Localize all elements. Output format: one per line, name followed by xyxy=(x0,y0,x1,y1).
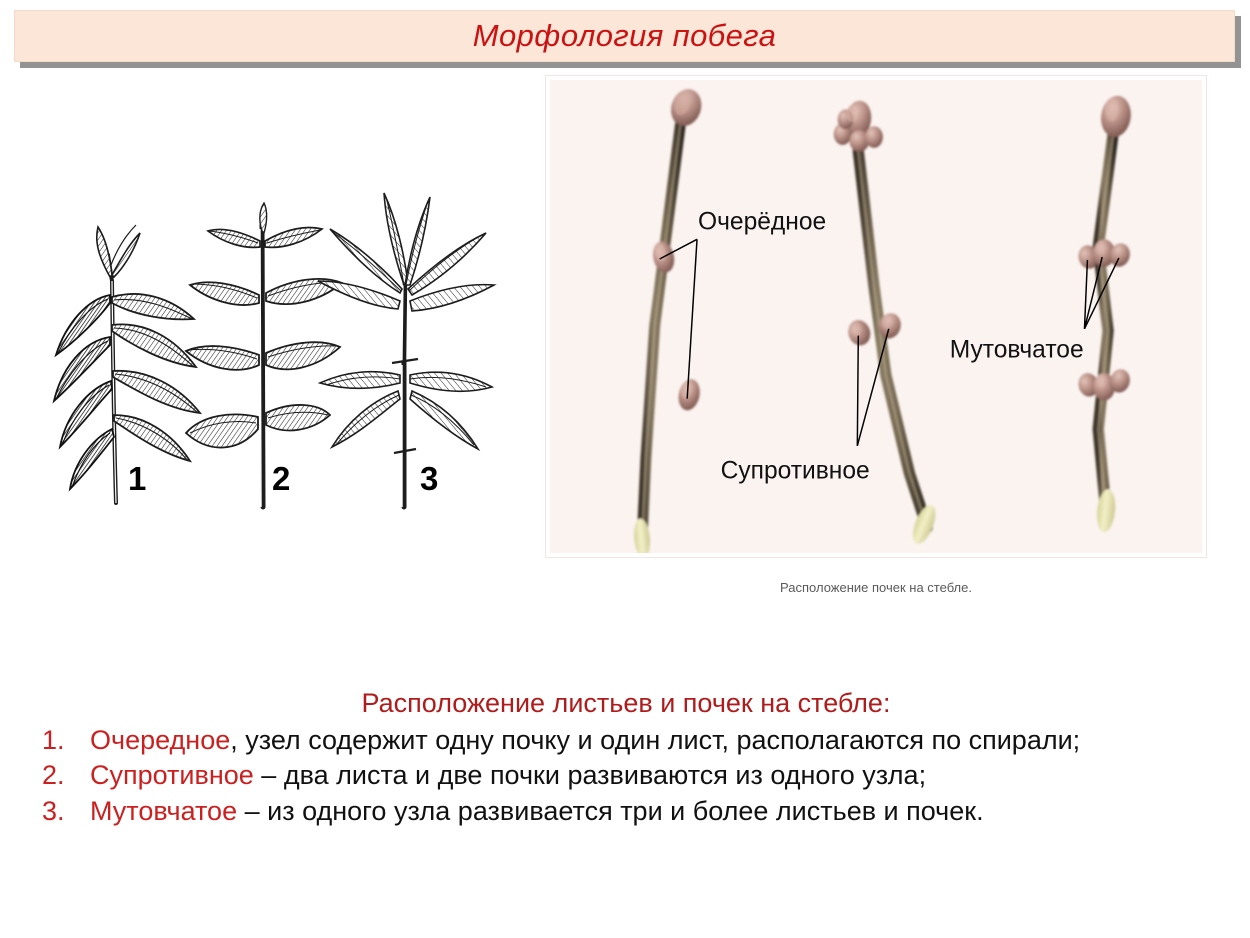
annotation-label-whorled: Мутовчатое xyxy=(950,336,1084,363)
list-item: 2.Супротивное – два листа и две почки ра… xyxy=(36,758,1216,793)
annotation-label-alternate: Очерёдное xyxy=(698,208,826,235)
list-item: 3.Мутовчатое – из одного узла развиваетс… xyxy=(36,794,1216,829)
list-item-number: 2. xyxy=(42,758,82,793)
content-heading: Расположение листьев и почек на стебле: xyxy=(36,688,1216,720)
plant-label-1: 1 xyxy=(128,460,146,498)
list-item: 1.Очередное, узел содержит одну почку и … xyxy=(36,723,1216,758)
page-title: Морфология побега xyxy=(15,18,1234,54)
list-item-number: 1. xyxy=(42,723,82,758)
arrangement-list: 1.Очередное, узел содержит одну почку и … xyxy=(36,723,1216,829)
bud-arrangement-diagram: Очерёдное Супротивное Мутовчатое xyxy=(546,76,1206,557)
list-item-text: – два листа и две почки развиваются из о… xyxy=(254,760,926,790)
annotation-label-opposite: Супротивное xyxy=(721,457,870,484)
list-item-term: Супротивное xyxy=(90,760,254,790)
list-item-term: Очередное xyxy=(90,725,230,755)
plant-label-3: 3 xyxy=(420,460,438,498)
diagram-caption: Расположение почек на стебле. xyxy=(546,580,1206,595)
title-banner: Морфология побега xyxy=(14,10,1235,62)
list-item-term: Мутовчатое xyxy=(90,796,237,826)
plant-label-2: 2 xyxy=(272,460,290,498)
plant-3-whorled xyxy=(318,193,494,507)
list-item-text: , узел содержит одну почку и один лист, … xyxy=(230,725,1080,755)
plant-2-opposite xyxy=(186,203,342,507)
list-item-text: – из одного узла развивается три и более… xyxy=(237,796,983,826)
content-block: Расположение листьев и почек на стебле: … xyxy=(36,688,1216,830)
list-item-number: 3. xyxy=(42,794,82,829)
plant-1-alternate xyxy=(54,225,200,503)
